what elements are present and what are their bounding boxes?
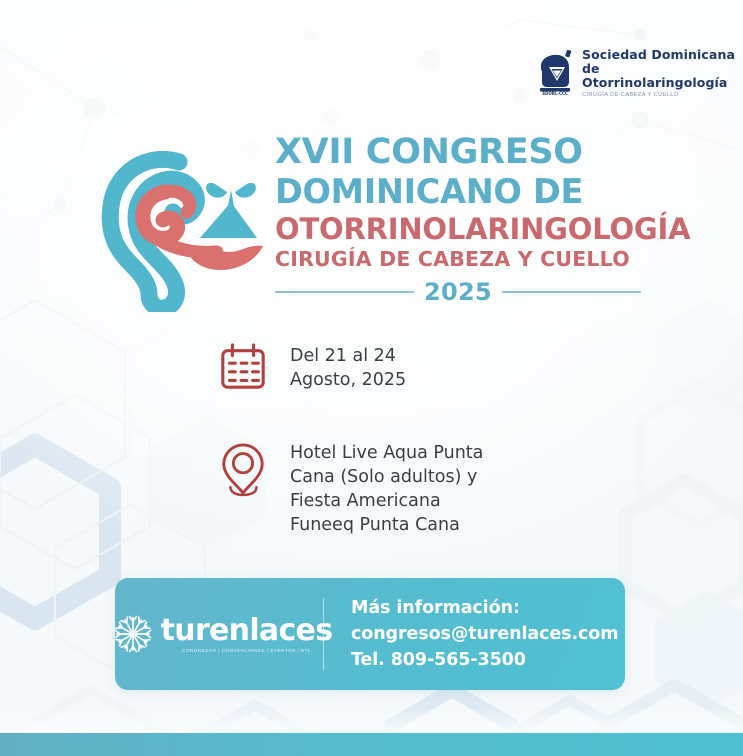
title-line-3: OTORRINOLARINGOLOGÍA	[275, 212, 645, 246]
venue-text: Hotel Live Aqua Punta Cana (Solo adultos…	[290, 439, 483, 537]
society-line-1: Sociedad Dominicana	[582, 48, 743, 62]
map-pin-icon	[218, 439, 268, 497]
date-text: Del 21 al 24 Agosto, 2025	[290, 341, 406, 392]
event-details: Del 21 al 24 Agosto, 2025 Hotel Live Aqu…	[218, 341, 638, 537]
society-mark-label: SDORL-CCC	[542, 91, 568, 96]
date-line-2: Agosto, 2025	[290, 368, 406, 392]
society-line-2: de Otorrinolaringología	[582, 62, 743, 90]
venue-line-1: Hotel Live Aqua Punta	[290, 441, 483, 465]
ear-nose-throat-logo-icon	[97, 140, 269, 312]
venue-line-3: Fiesta Americana	[290, 489, 483, 513]
contact-card: turenlaces CONGRESOS / CONVENCIONES / EV…	[115, 578, 625, 690]
brand-tagline: CONGRESOS / CONVENCIONES / EVENTOS / BTL	[161, 648, 333, 653]
title-line-1: XVII CONGRESO	[275, 132, 645, 172]
contact-info: Más información: congresos@turenlaces.co…	[324, 595, 618, 673]
venue-line-2: Cana (Solo adultos) y	[290, 465, 483, 489]
year-rule-right	[502, 291, 641, 293]
society-logo: SDORL-CCC Sociedad Dominicana de Otorrin…	[535, 48, 743, 98]
calendar-icon	[218, 341, 268, 393]
brand-name: turenlaces	[161, 616, 333, 646]
turenlaces-logo: turenlaces CONGRESOS / CONVENCIONES / EV…	[115, 613, 323, 655]
title-line-2: DOMINICANO DE	[275, 172, 645, 212]
head-profile-triangle-icon: SDORL-CCC	[535, 50, 575, 96]
date-line-1: Del 21 al 24	[290, 344, 406, 368]
year-rule-left	[275, 291, 414, 293]
year-label: 2025	[424, 278, 492, 306]
contact-line-1: Más información:	[351, 595, 618, 621]
bottom-teal-band	[0, 733, 743, 756]
contact-phone[interactable]: Tel. 809-565-3500	[351, 647, 618, 673]
hero-section: XVII CONGRESO DOMINICANO DE OTORRINOLARI…	[0, 132, 743, 327]
venue-row: Hotel Live Aqua Punta Cana (Solo adultos…	[218, 439, 638, 537]
venue-line-4: Funeeq Punta Cana	[290, 513, 483, 537]
society-logo-text: Sociedad Dominicana de Otorrinolaringolo…	[582, 48, 743, 98]
congress-title: XVII CONGRESO DOMINICANO DE OTORRINOLARI…	[275, 132, 645, 306]
date-row: Del 21 al 24 Agosto, 2025	[218, 341, 638, 393]
year-row: 2025	[275, 278, 641, 306]
society-subtitle: CIRUGÍA DE CABEZA Y CUELLO	[582, 92, 743, 98]
turenlaces-wordmark: turenlaces CONGRESOS / CONVENCIONES / EV…	[161, 616, 333, 653]
poster-canvas: SDORL-CCC Sociedad Dominicana de Otorrin…	[0, 0, 743, 756]
contact-email[interactable]: congresos@turenlaces.com	[351, 621, 618, 647]
bottom-fade	[0, 707, 743, 733]
starburst-snowflake-icon	[112, 613, 154, 655]
title-line-4: CIRUGÍA DE CABEZA Y CUELLO	[275, 246, 645, 272]
